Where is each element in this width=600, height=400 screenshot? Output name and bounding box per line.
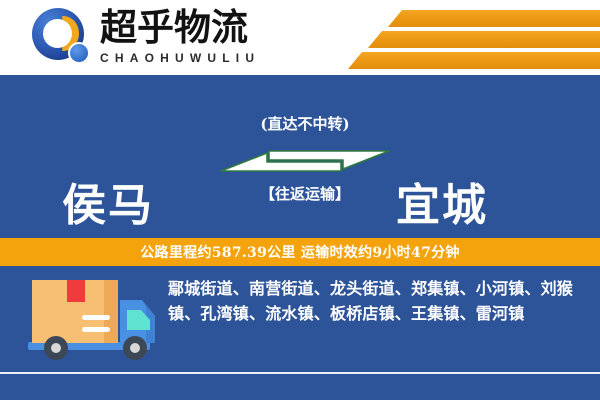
header-bar: 超乎物流 CHAOHUWULIU [0,0,600,75]
stripe-2 [368,31,600,48]
logo-inner-circle-shape [43,19,72,48]
delivery-truck-icon [22,272,162,367]
logo-dot-shape [68,42,90,64]
coverage-areas-section: 鄢城街道、南营街道、龙头街道、郑集镇、小河镇、刘猴镇、孔湾镇、流水镇、板桥店镇、… [0,266,600,400]
orange-speed-stripes-icon [330,0,600,75]
roundtrip-badge: 【往返运输】 [215,183,395,204]
origin-city: 侯马 [62,169,154,233]
direct-badge: (直达不中转) [215,113,395,134]
bottom-divider [0,372,600,374]
destination-city: 宜城 [396,169,488,233]
double-arrow-icon [219,140,391,180]
stripe-1 [388,10,600,27]
coverage-areas-text: 鄢城街道、南营街道、龙头街道、郑集镇、小河镇、刘猴镇、孔湾镇、流水镇、板桥店镇、… [168,276,584,326]
distance-duration-text: 公路里程约587.39公里 运输时效约9小时47分钟 [140,242,459,262]
logistics-route-banner: 超乎物流 CHAOHUWULIU 侯马 (直达不中转) 【往返运输】 宜城 公路… [0,0,600,400]
brand-name-cn: 超乎物流 [100,6,285,48]
brand-name-en: CHAOHUWULIU [100,51,285,65]
brand-block: 超乎物流 CHAOHUWULIU [100,6,285,65]
route-section: 侯马 (直达不中转) 【往返运输】 宜城 [0,75,600,238]
chaohu-circle-logo-icon [32,8,94,68]
distance-duration-bar: 公路里程约587.39公里 运输时效约9小时47分钟 [0,238,600,266]
route-arrow-block: (直达不中转) 【往返运输】 [215,113,395,238]
stripe-3 [348,52,600,69]
